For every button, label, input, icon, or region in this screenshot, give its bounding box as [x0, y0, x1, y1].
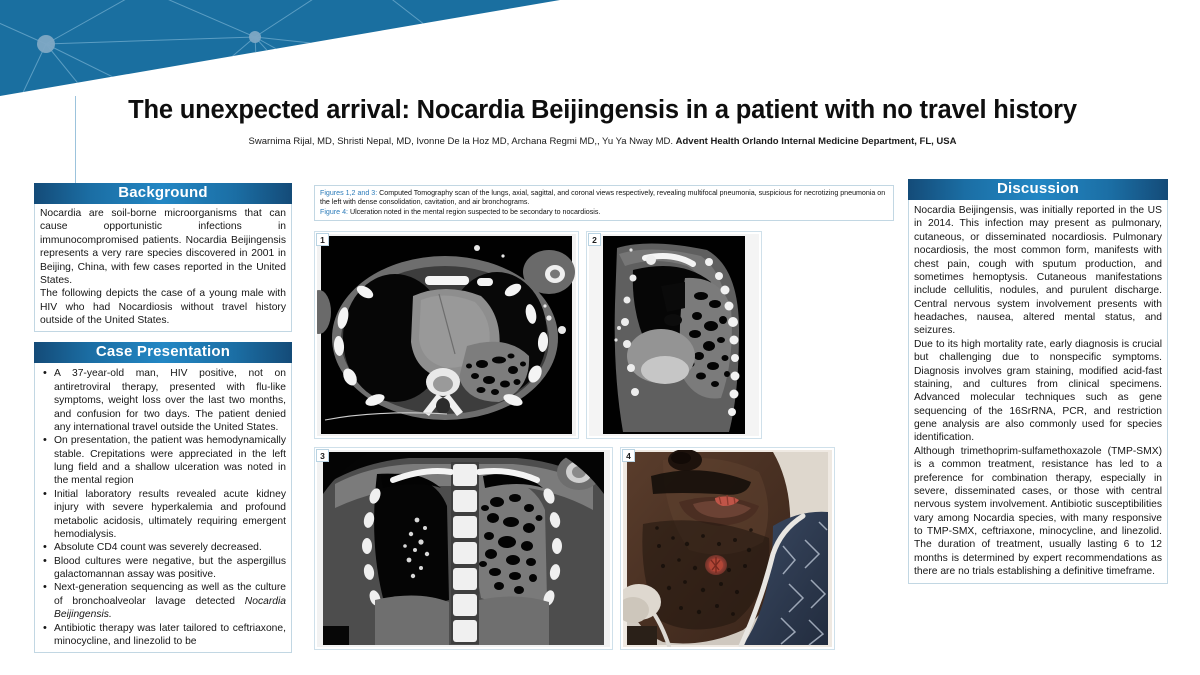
banner-connector-line — [75, 96, 76, 190]
figure-1-ct-axial: 1 — [314, 231, 579, 439]
ct-coronal-chest-image — [317, 450, 610, 647]
middle-column: Figures 1,2 and 3: Computed Tomography s… — [314, 185, 894, 650]
figure-1-number-badge: 1 — [316, 233, 329, 246]
author-line: Swarnima Rijal, MD, Shristi Nepal, MD, I… — [115, 136, 1090, 148]
right-column: Discussion Nocardia Beijingensis, was in… — [908, 179, 1168, 584]
figure-caption-line-2: Figure 4: Ulceration noted in the mental… — [320, 208, 888, 217]
figure-3-ct-coronal: 3 — [314, 447, 613, 650]
discussion-body: Nocardia Beijingensis, was initially rep… — [908, 200, 1168, 584]
figure-grid: 1 — [314, 231, 894, 650]
list-item: Initial laboratory results revealed acut… — [40, 488, 286, 542]
author-affiliation: Advent Health Orlando Internal Medicine … — [676, 136, 957, 147]
section-background: Background Nocardia are soil-borne micro… — [34, 183, 292, 332]
discussion-paragraph-1: Nocardia Beijingensis, was initially rep… — [914, 204, 1162, 338]
ct-sagittal-chest-image — [589, 234, 759, 436]
background-paragraph-2: The following depicts the case of a youn… — [40, 287, 286, 327]
background-heading: Background — [34, 183, 292, 204]
figure-4-number-badge: 4 — [622, 449, 635, 462]
list-item: Blood cultures were negative, but the as… — [40, 555, 286, 582]
discussion-heading: Discussion — [908, 179, 1168, 200]
figure-3-number-badge: 3 — [316, 449, 329, 462]
section-discussion: Discussion Nocardia Beijingensis, was in… — [908, 179, 1168, 584]
author-names: Swarnima Rijal, MD, Shristi Nepal, MD, I… — [249, 136, 676, 147]
caption-text-figure-4: Ulceration noted in the mental region su… — [348, 208, 600, 216]
list-item: A 37-year-old man, HIV positive, not on … — [40, 367, 286, 434]
clinical-photo-chin-ulceration-image — [623, 450, 832, 647]
figure-4-clinical-photo: 4 — [620, 447, 835, 650]
figure-2-number-badge: 2 — [588, 233, 601, 246]
case-presentation-bullet-list: A 37-year-old man, HIV positive, not on … — [40, 367, 286, 648]
discussion-paragraph-2: Due to its high mortality rate, early di… — [914, 338, 1162, 445]
list-item: Absolute CD4 count was severely decrease… — [40, 541, 286, 554]
left-column: Background Nocardia are soil-borne micro… — [34, 183, 292, 653]
section-case-presentation: Case Presentation A 37-year-old man, HIV… — [34, 342, 292, 653]
caption-label-figures-123: Figures 1,2 and 3: — [320, 189, 377, 197]
caption-text-figures-123: Computed Tomography scan of the lungs, a… — [320, 189, 885, 206]
ct-axial-chest-image — [317, 234, 576, 436]
figure-2-ct-sagittal: 2 — [586, 231, 762, 439]
figure-row-top: 1 — [314, 231, 894, 439]
case-presentation-body: A 37-year-old man, HIV positive, not on … — [34, 363, 292, 653]
figure-caption-box: Figures 1,2 and 3: Computed Tomography s… — [314, 185, 894, 221]
discussion-paragraph-3: Although trimethoprim-sulfamethoxazole (… — [914, 445, 1162, 579]
list-item: Antibiotic therapy was later tailored to… — [40, 622, 286, 649]
page-title: The unexpected arrival: Nocardia Beijing… — [115, 96, 1090, 124]
list-item: On presentation, the patient was hemodyn… — [40, 434, 286, 488]
list-item: Next-generation sequencing as well as th… — [40, 581, 286, 621]
caption-label-figure-4: Figure 4: — [320, 208, 348, 216]
background-paragraph-1: Nocardia are soil-borne microorganisms t… — [40, 207, 286, 287]
background-body: Nocardia are soil-borne microorganisms t… — [34, 204, 292, 332]
figure-caption-line-1: Figures 1,2 and 3: Computed Tomography s… — [320, 189, 888, 208]
case-presentation-heading: Case Presentation — [34, 342, 292, 363]
figure-row-bottom: 3 — [314, 447, 894, 650]
